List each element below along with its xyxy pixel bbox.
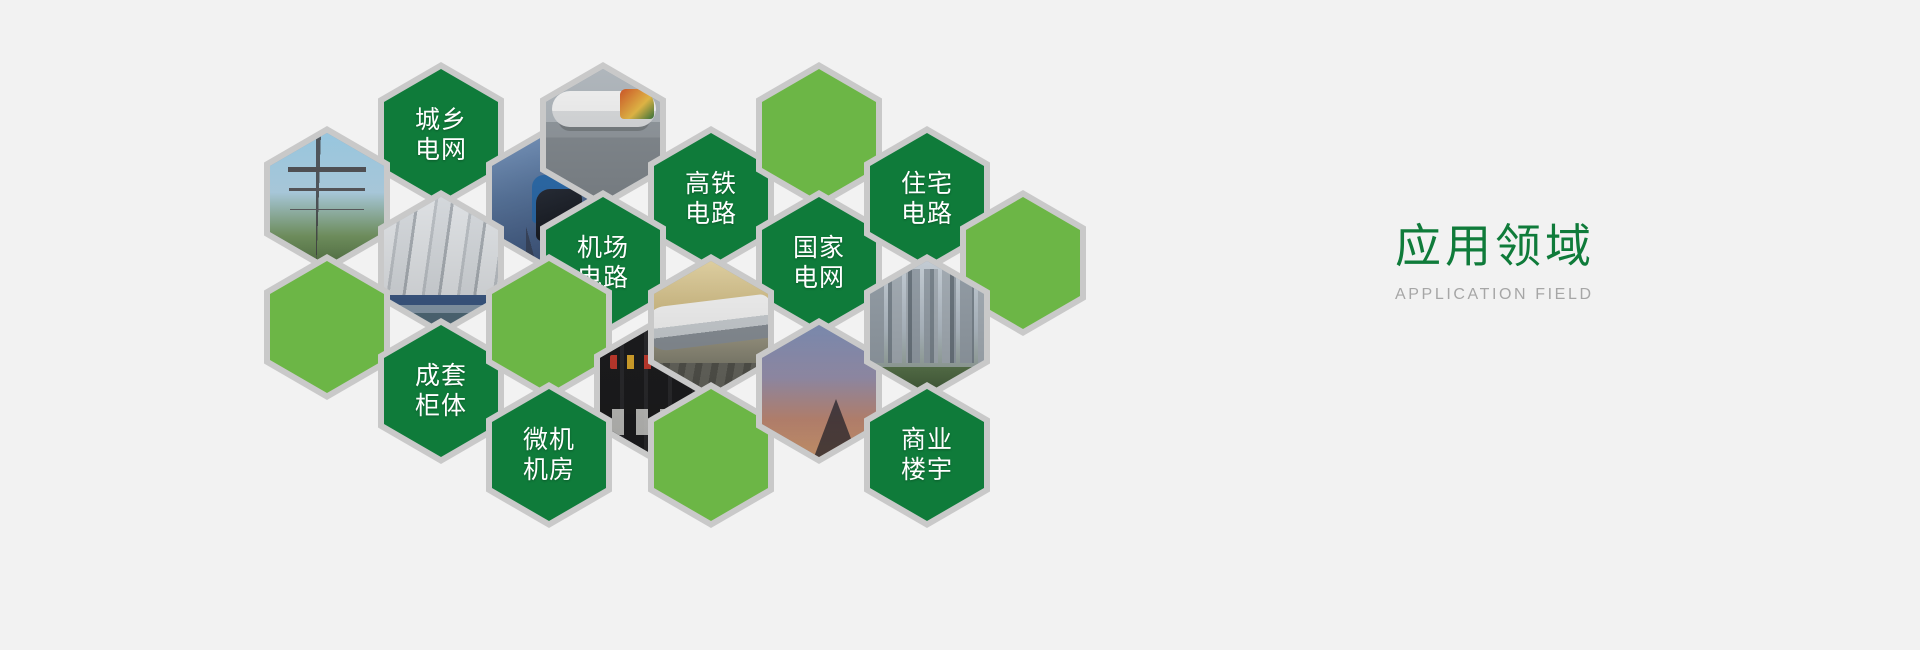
hex-tile-hsr-circuit[interactable]: 高铁 电路 (648, 126, 774, 272)
hex-tile-face (870, 261, 984, 393)
hex-tile-label: 微机 机房 (523, 425, 575, 485)
photo-shade-overlay (654, 261, 768, 393)
hex-tile-label: 高铁 电路 (685, 169, 737, 229)
hex-tile-face (492, 261, 606, 393)
photo-shade-overlay (384, 197, 498, 329)
hex-tile-cabinet-photo[interactable] (378, 190, 504, 336)
hex-tile-face (762, 69, 876, 201)
hex-tile-pole-photo[interactable] (264, 126, 390, 272)
hex-tile-face (270, 133, 384, 265)
hex-tile-plain-top-right[interactable] (756, 62, 882, 208)
hex-tile-face (546, 69, 660, 201)
hex-tile-face: 高铁 电路 (654, 133, 768, 265)
photo-shade-overlay (546, 69, 660, 201)
hex-tile-urban-rural-grid[interactable]: 城乡 电网 (378, 62, 504, 208)
title-block: 应用领域 APPLICATION FIELD (1395, 218, 1815, 304)
page-subtitle: APPLICATION FIELD (1395, 286, 1815, 304)
hex-tile-label: 国家 电网 (793, 233, 845, 293)
hex-tile-label: 商业 楼宇 (901, 425, 953, 485)
hex-tile-label: 成套 柜体 (415, 361, 467, 421)
hex-tile-plain-left[interactable] (264, 254, 390, 400)
hex-tile-state-grid[interactable]: 国家 电网 (756, 190, 882, 336)
hexagon-collage: 城乡 电网高铁 电路国家 电网住宅 电路机场 电路成套 柜体微机 机房商业 楼宇 (300, 50, 1300, 610)
hex-tile-face: 商业 楼宇 (870, 389, 984, 521)
hex-tile-label: 住宅 电路 (901, 169, 953, 229)
hex-tile-face (384, 197, 498, 329)
photo-shade-overlay (270, 133, 384, 265)
photo-shade-overlay (762, 325, 876, 457)
hex-tile-face (654, 389, 768, 521)
hex-tile-face (654, 261, 768, 393)
photo-shade-overlay (870, 261, 984, 393)
hex-tile-micro-computer-room[interactable]: 微机 机房 (486, 382, 612, 528)
hex-tile-face (762, 325, 876, 457)
page-title: 应用领域 (1395, 218, 1815, 274)
hex-tile-sunset-tower-photo[interactable] (756, 318, 882, 464)
hex-tile-face (270, 261, 384, 393)
hex-tile-face: 微机 机房 (492, 389, 606, 521)
hex-tile-label: 城乡 电网 (415, 105, 467, 165)
hex-tile-face: 国家 电网 (762, 197, 876, 329)
hex-tile-complete-cabinet[interactable]: 成套 柜体 (378, 318, 504, 464)
hex-tile-face: 成套 柜体 (384, 325, 498, 457)
application-field-section: 城乡 电网高铁 电路国家 电网住宅 电路机场 电路成套 柜体微机 机房商业 楼宇… (0, 0, 1920, 650)
hex-tile-commercial-building[interactable]: 商业 楼宇 (864, 382, 990, 528)
hex-tile-face: 城乡 电网 (384, 69, 498, 201)
